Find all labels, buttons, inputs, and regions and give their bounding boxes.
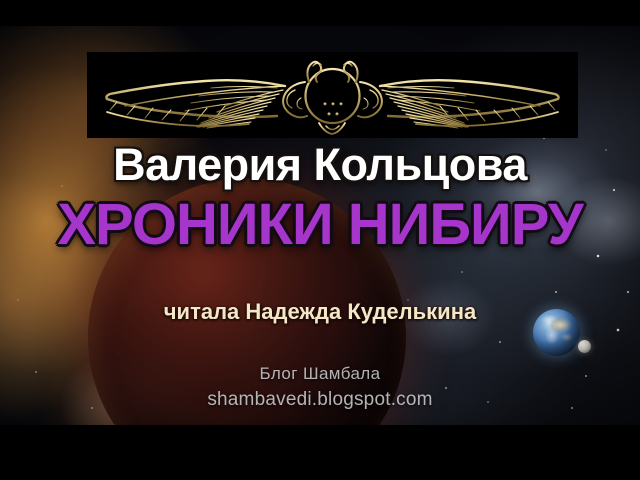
letterbox-top: [0, 0, 640, 26]
emblem-panel: [87, 52, 578, 138]
earth-shadow: [533, 309, 580, 356]
video-thumbnail: Валерия Кольцова ХРОНИКИ НИБИРУ читала Н…: [0, 0, 640, 480]
winged-sun-disk-icon: [87, 52, 578, 138]
moon: [578, 340, 591, 353]
earth-globe: [533, 309, 580, 356]
letterbox-bottom: [0, 425, 640, 480]
author-name: Валерия Кольцова: [0, 142, 640, 187]
